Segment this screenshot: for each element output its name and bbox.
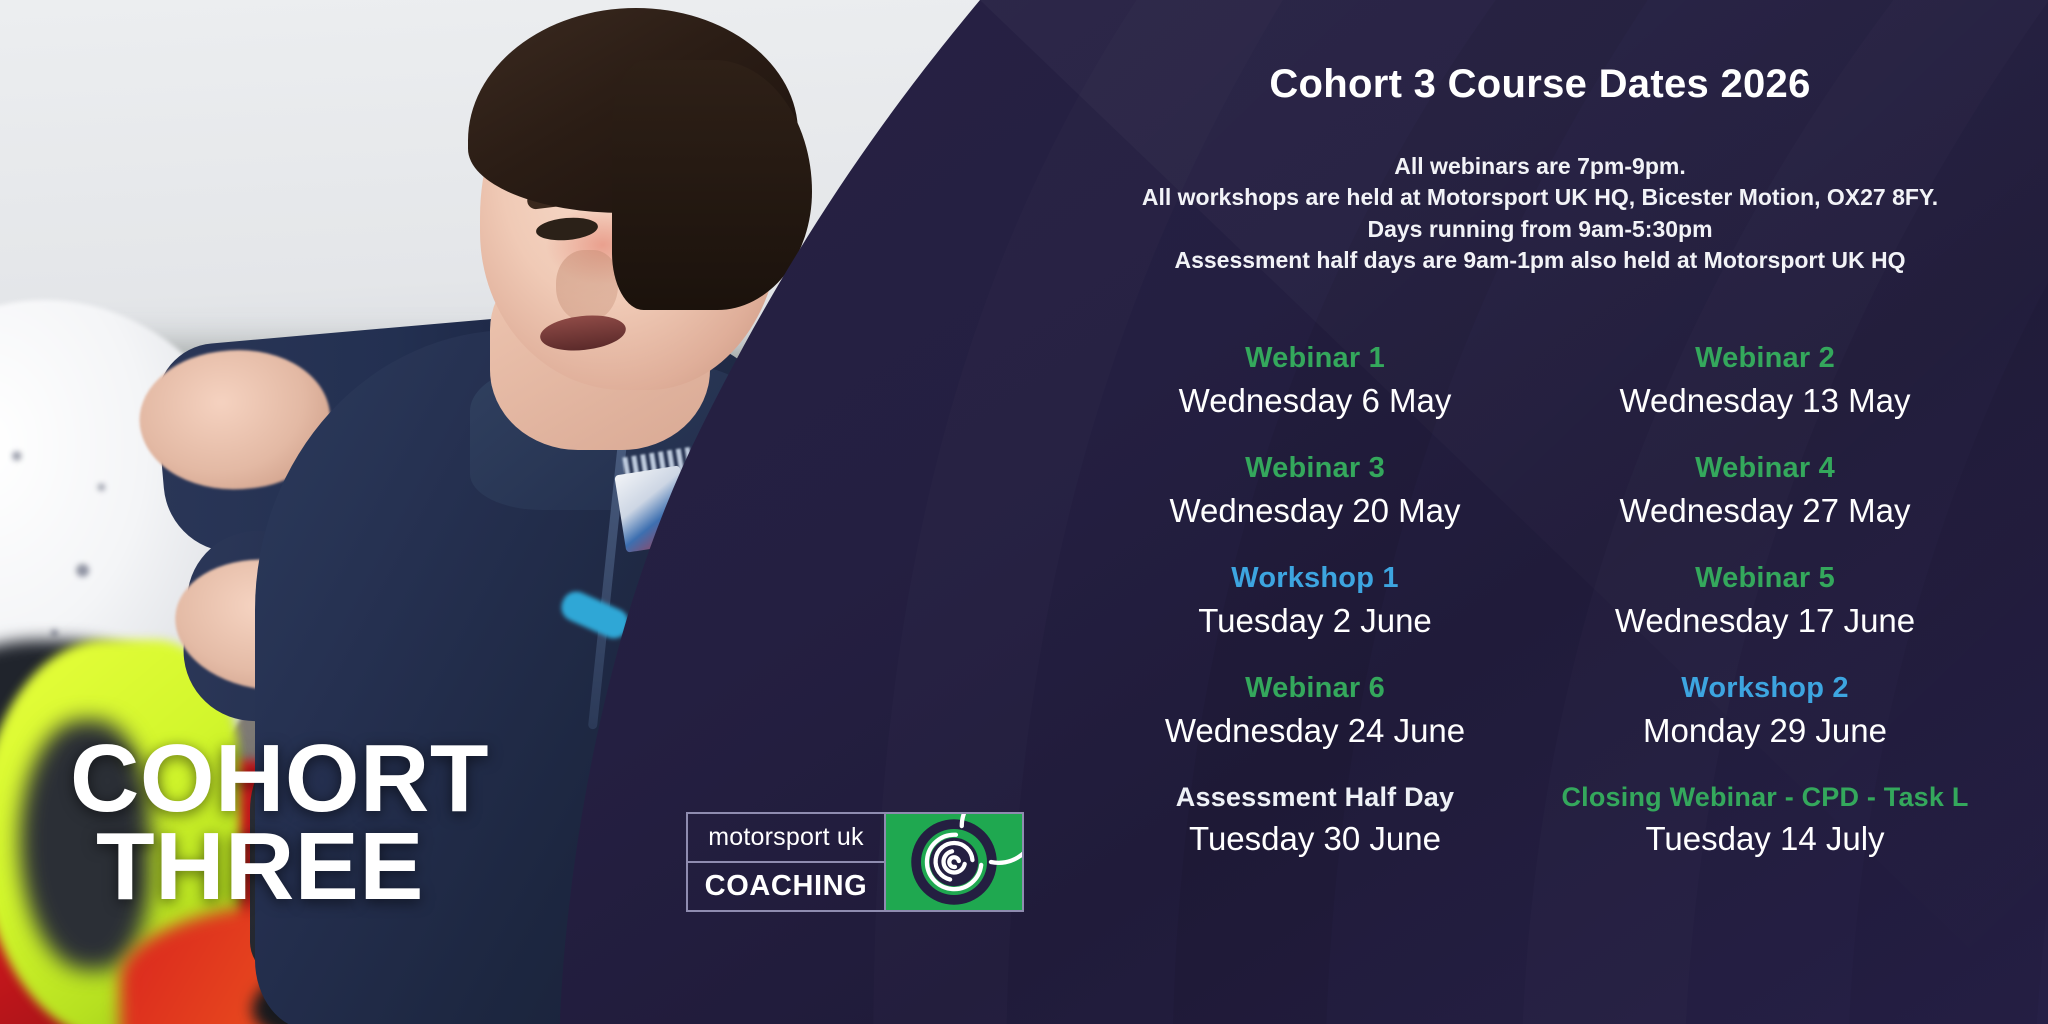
session-label: Workshop 1 bbox=[1090, 562, 1540, 595]
schedule-item: Workshop 1 Tuesday 2 June bbox=[1090, 548, 1540, 658]
course-notes: All webinars are 7pm-9pm. All workshops … bbox=[1090, 151, 1990, 276]
logo-coaching-text: COACHING bbox=[705, 870, 868, 903]
session-label: Assessment Half Day bbox=[1090, 782, 1540, 813]
cohort-line-2: THREE bbox=[96, 823, 489, 911]
session-date: Wednesday 13 May bbox=[1540, 382, 1990, 420]
schedule-grid: Webinar 1 Wednesday 6 May Webinar 2 Wedn… bbox=[1090, 328, 1990, 876]
session-date: Wednesday 17 June bbox=[1540, 602, 1990, 640]
session-label: Webinar 6 bbox=[1090, 672, 1540, 705]
note-line-4: Assessment half days are 9am-1pm also he… bbox=[1090, 245, 1990, 276]
schedule-item: Webinar 6 Wednesday 24 June bbox=[1090, 658, 1540, 768]
session-label: Webinar 5 bbox=[1540, 562, 1990, 595]
session-date: Tuesday 14 July bbox=[1540, 820, 1990, 858]
cohort-overlay-title: COHORT THREE bbox=[70, 735, 489, 912]
session-label: Webinar 4 bbox=[1540, 452, 1990, 485]
motorsport-uk-coaching-logo: motorsport uk COACHING bbox=[686, 812, 1024, 912]
logo-top-row: motorsport uk bbox=[688, 814, 884, 863]
schedule-row: Assessment Half Day Tuesday 30 June Clos… bbox=[1090, 768, 1990, 876]
logo-motorsport-uk-text: motorsport uk bbox=[708, 823, 863, 852]
schedule-item: Webinar 4 Wednesday 27 May bbox=[1540, 438, 1990, 548]
session-date: Wednesday 24 June bbox=[1090, 712, 1540, 750]
session-date: Tuesday 30 June bbox=[1090, 820, 1540, 858]
schedule-row: Webinar 6 Wednesday 24 June Workshop 2 M… bbox=[1090, 658, 1990, 768]
session-label: Webinar 1 bbox=[1090, 342, 1540, 375]
schedule-item: Closing Webinar - CPD - Task L Tuesday 1… bbox=[1540, 768, 1990, 876]
spiral-swirl-icon bbox=[884, 814, 1022, 910]
course-info-panel: Cohort 3 Course Dates 2026 All webinars … bbox=[1090, 0, 1990, 1024]
promo-graphic: COHORT THREE Cohort 3 Course Dates 2026 … bbox=[0, 0, 2048, 1024]
session-date: Tuesday 2 June bbox=[1090, 602, 1540, 640]
session-label: Workshop 2 bbox=[1540, 672, 1990, 705]
schedule-item: Webinar 1 Wednesday 6 May bbox=[1090, 328, 1540, 438]
schedule-item: Webinar 5 Wednesday 17 June bbox=[1540, 548, 1990, 658]
session-date: Wednesday 6 May bbox=[1090, 382, 1540, 420]
schedule-item: Assessment Half Day Tuesday 30 June bbox=[1090, 768, 1540, 876]
schedule-row: Webinar 1 Wednesday 6 May Webinar 2 Wedn… bbox=[1090, 328, 1990, 438]
note-line-1: All webinars are 7pm-9pm. bbox=[1090, 151, 1990, 182]
schedule-row: Webinar 3 Wednesday 20 May Webinar 4 Wed… bbox=[1090, 438, 1990, 548]
session-label: Webinar 2 bbox=[1540, 342, 1990, 375]
schedule-item: Workshop 2 Monday 29 June bbox=[1540, 658, 1990, 768]
session-label: Webinar 3 bbox=[1090, 452, 1540, 485]
logo-wordmark: motorsport uk COACHING bbox=[688, 814, 884, 910]
note-line-2: All workshops are held at Motorsport UK … bbox=[1090, 182, 1990, 213]
schedule-item: Webinar 3 Wednesday 20 May bbox=[1090, 438, 1540, 548]
session-date: Monday 29 June bbox=[1540, 712, 1990, 750]
note-line-3: Days running from 9am-5:30pm bbox=[1090, 214, 1990, 245]
session-date: Wednesday 20 May bbox=[1090, 492, 1540, 530]
spiral-swirl-glyph bbox=[886, 814, 1022, 910]
schedule-item: Webinar 2 Wednesday 13 May bbox=[1540, 328, 1990, 438]
logo-bottom-row: COACHING bbox=[688, 863, 884, 910]
page-title: Cohort 3 Course Dates 2026 bbox=[1090, 62, 1990, 107]
session-date: Wednesday 27 May bbox=[1540, 492, 1990, 530]
cohort-line-1: COHORT bbox=[70, 735, 489, 823]
session-label: Closing Webinar - CPD - Task L bbox=[1540, 782, 1990, 813]
schedule-row: Workshop 1 Tuesday 2 June Webinar 5 Wedn… bbox=[1090, 548, 1990, 658]
